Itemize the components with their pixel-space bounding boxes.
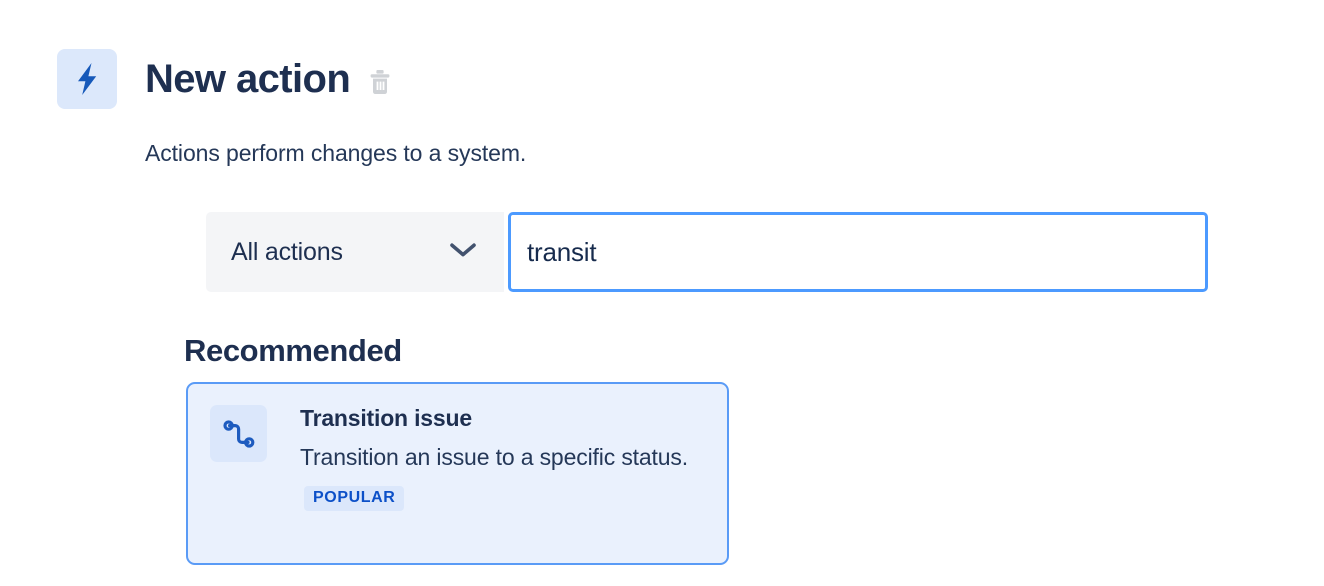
trash-icon[interactable] [367, 67, 393, 97]
action-filter-dropdown[interactable]: All actions [206, 212, 504, 292]
recommended-heading: Recommended [184, 331, 402, 371]
lightning-bolt-icon [57, 49, 117, 109]
action-filter-dropdown-label: All actions [231, 238, 343, 267]
recommended-card-description-text: Transition an issue to a specific status… [300, 444, 688, 470]
title-wrap: New action [145, 49, 393, 109]
recommended-card-text: Transition issue Transition an issue to … [300, 404, 712, 517]
recommended-card-description: Transition an issue to a specific status… [300, 437, 712, 517]
search-input[interactable] [527, 237, 1189, 268]
header: New action [57, 49, 393, 109]
popular-badge: POPULAR [304, 486, 404, 511]
action-search-field[interactable] [508, 212, 1208, 292]
panel-subtitle: Actions perform changes to a system. [145, 138, 526, 168]
page-title: New action [145, 57, 350, 101]
new-action-panel: New action Actions perform changes to a … [0, 0, 1324, 586]
chevron-down-icon [449, 241, 477, 264]
action-search-row: All actions [206, 212, 1208, 292]
recommended-card-transition-issue[interactable]: Transition issue Transition an issue to … [186, 382, 729, 565]
recommended-card-inner: Transition issue Transition an issue to … [188, 404, 727, 517]
recommended-card-title: Transition issue [300, 404, 712, 432]
transition-path-icon [210, 405, 267, 462]
